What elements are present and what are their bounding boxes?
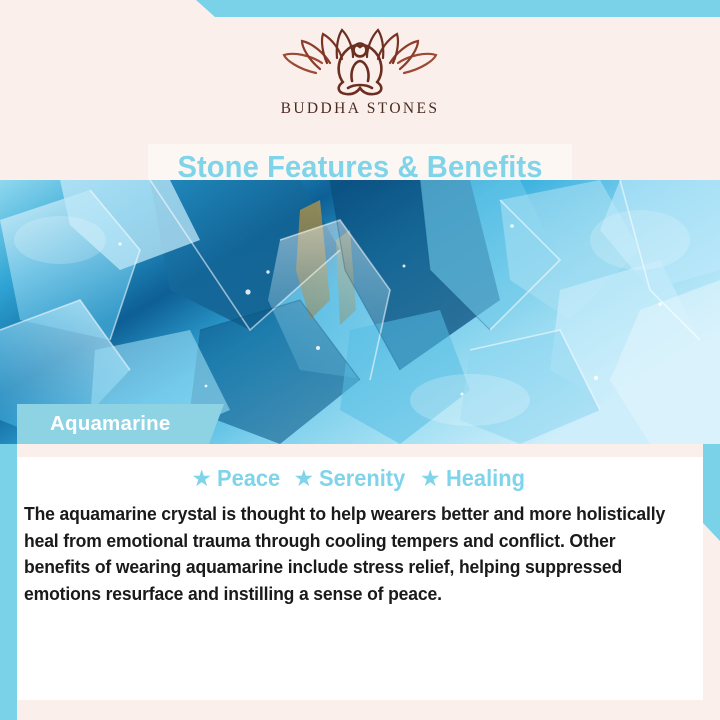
divider-strip [17, 444, 703, 457]
footer-strip [17, 700, 703, 720]
brand-logo: BUDDHA STONES [0, 25, 720, 118]
brand-name: BUDDHA STONES [0, 100, 720, 118]
keyword-label: Healing [446, 463, 525, 493]
star-icon: ★ [420, 463, 441, 493]
card-content: ★ Peace ★ Serenity ★ Healing The aquamar… [17, 457, 703, 700]
decorative-band-top [196, 0, 720, 17]
keyword-item-serenity: ★ Serenity [294, 463, 410, 493]
stone-features-infographic-card: BUDDHA STONES Stone Features & Benefits [0, 0, 720, 720]
lotus-meditation-icon [280, 25, 440, 99]
keyword-label: Peace [217, 463, 280, 493]
star-icon: ★ [294, 463, 315, 493]
card-header: BUDDHA STONES Stone Features & Benefits [0, 17, 720, 180]
star-icon: ★ [191, 463, 212, 493]
keyword-item-healing: ★ Healing [420, 463, 529, 493]
keyword-item-peace: ★ Peace [191, 463, 283, 493]
description-paragraph: The aquamarine crystal is thought to hel… [24, 501, 669, 607]
keyword-label: Serenity [319, 463, 405, 493]
keyword-list: ★ Peace ★ Serenity ★ Healing [17, 463, 703, 493]
stone-name: Aquamarine [50, 404, 170, 444]
